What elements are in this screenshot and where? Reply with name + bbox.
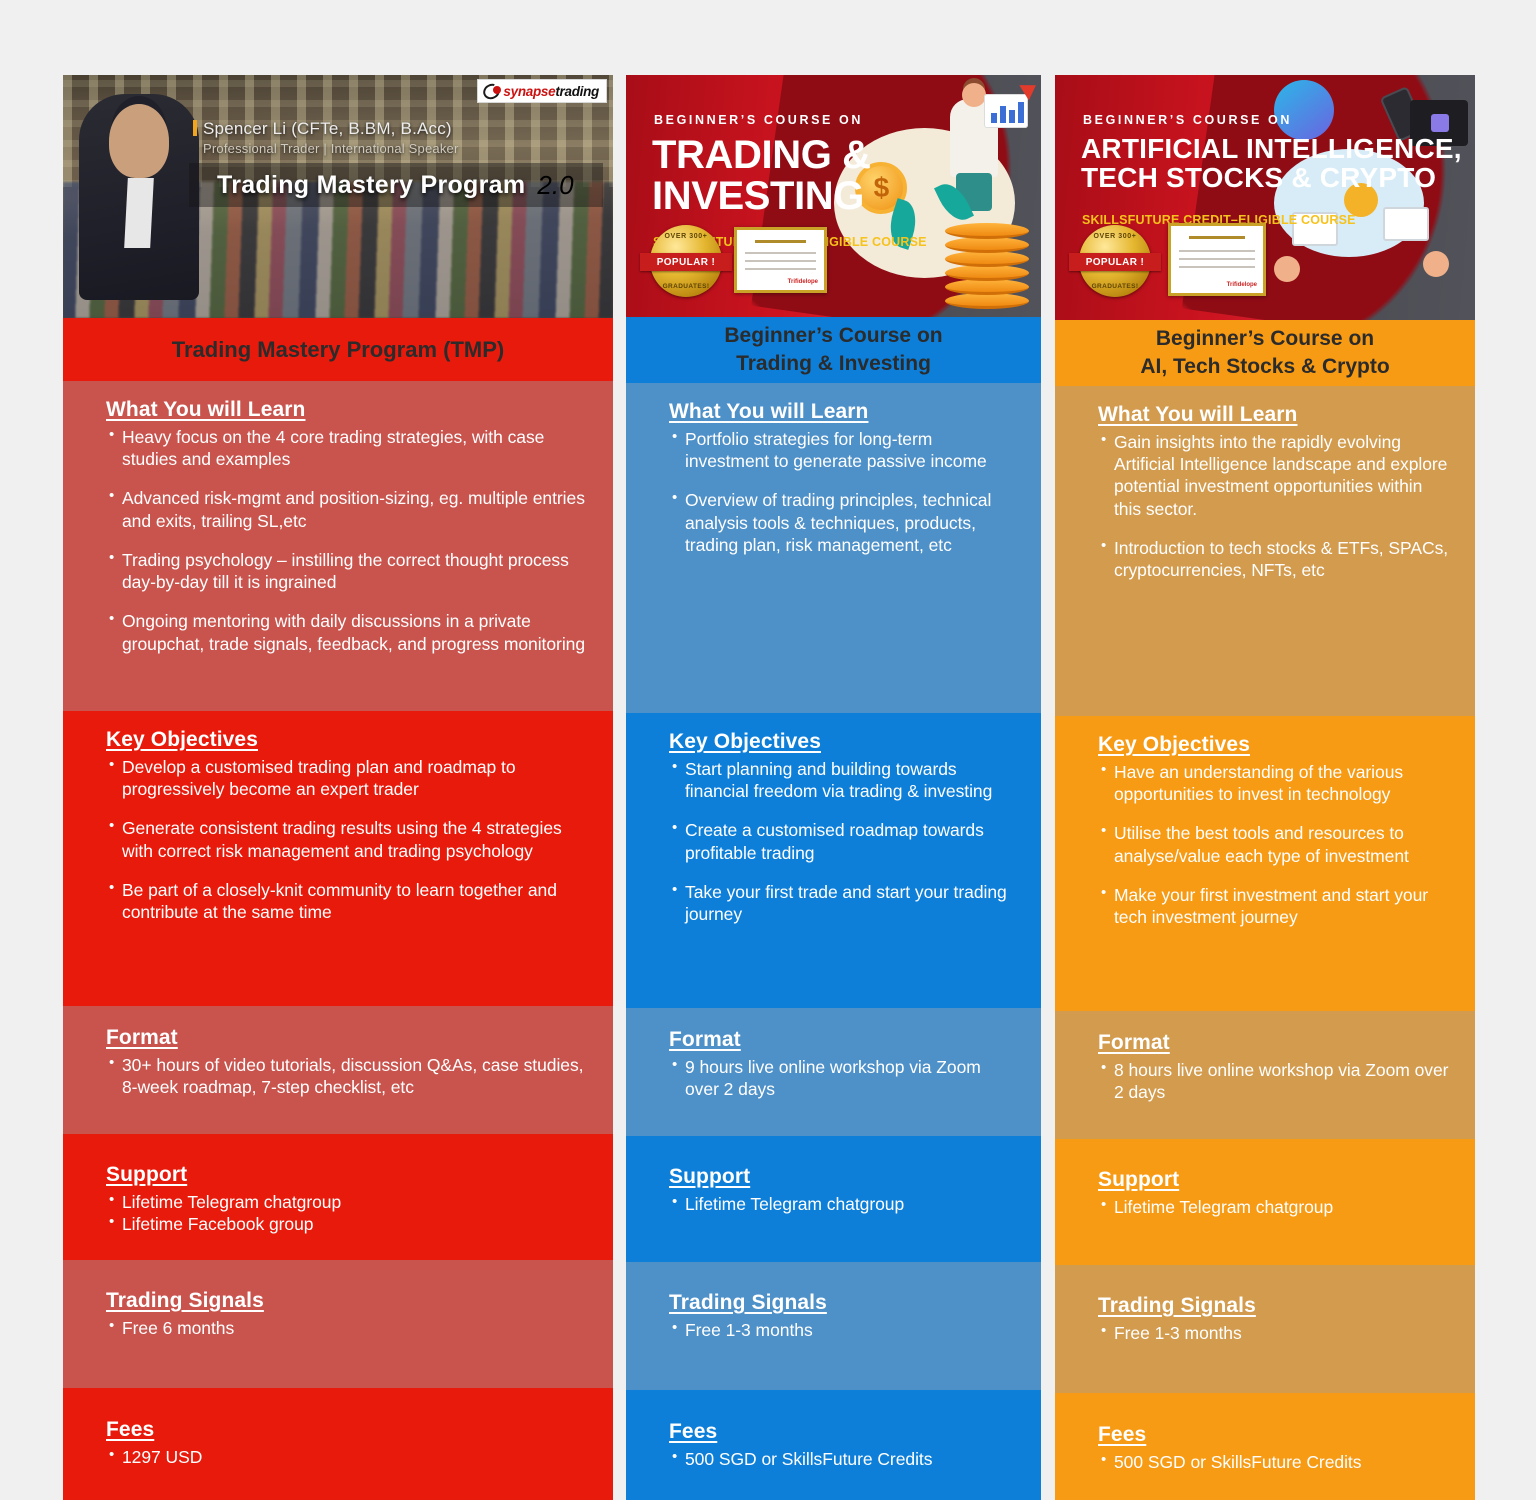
section-trading-signals-tmp: Trading Signals Free 6 months [63,1260,613,1388]
list-item: Trading psychology – instilling the corr… [109,549,591,593]
promo-title: ARTIFICIAL INTELLIGENCE, TECH STOCKS & C… [1081,135,1462,192]
section-list: Develop a customised trading plan and ro… [109,756,591,923]
list-item: 500 SGD or SkillsFuture Credits [672,1448,1019,1470]
section-list: Lifetime Telegram chatgroup [1101,1196,1453,1218]
promo-title-line-2: INVESTING [652,176,871,217]
certificate-thumbnail: Trifidelope [734,227,827,293]
section-list: 1297 USD [109,1446,591,1468]
list-item: Overview of trading principles, technica… [672,489,1019,556]
speaker-portrait [79,94,199,300]
logo-word-synapse: synapse [503,84,555,99]
logo-wordmark: synapsetrading [503,84,599,99]
section-format-ai: Format 8 hours live online workshop via … [1055,1011,1475,1139]
section-support-ai: Support Lifetime Telegram chatgroup [1055,1139,1475,1265]
list-item: Develop a customised trading plan and ro… [109,756,591,800]
section-heading: Format [1098,1031,1453,1055]
list-item: Lifetime Telegram chatgroup [109,1191,591,1213]
list-item: Take your first trade and start your tra… [672,881,1019,925]
logo-word-trading: trading [555,84,599,99]
chart-bar [1009,110,1015,123]
column-title-tmp: Trading Mastery Program (TMP) [63,318,613,381]
section-format-ti: Format 9 hours live online workshop via … [626,1008,1041,1136]
section-support-ti: Support Lifetime Telegram chatgroup [626,1136,1041,1262]
section-heading: Trading Signals [106,1289,591,1313]
column-title-text: Beginner’s Course on Trading & Investing [724,322,942,377]
cert-line [1179,258,1255,260]
section-fees-tmp: Fees 1297 USD [63,1388,613,1500]
tech-circle-icon [1274,80,1334,140]
section-heading: Format [669,1028,1019,1052]
section-heading: Fees [669,1420,1019,1444]
accent-bar-icon [193,120,197,136]
promo-kicker: BEGINNER’S COURSE ON [654,113,863,127]
list-item: Have an understanding of the various opp… [1101,761,1453,805]
course-column-ai-tech-crypto: BEGINNER’S COURSE ON ARTIFICIAL INTELLIG… [1055,75,1475,1500]
section-list: 500 SGD or SkillsFuture Credits [1101,1451,1453,1473]
section-what-you-will-learn-ti: What You will Learn Portfolio strategies… [626,383,1041,713]
section-heading: What You will Learn [669,400,1019,424]
section-list: Portfolio strategies for long-term inves… [672,428,1019,556]
program-title: Trading Mastery Program [217,171,525,200]
section-heading: Fees [106,1418,591,1442]
section-list: 9 hours live online workshop via Zoom ov… [672,1056,1019,1100]
section-list: Heavy focus on the 4 core trading strate… [109,426,591,655]
section-heading: Key Objectives [1098,733,1453,757]
section-what-you-will-learn-ai: What You will Learn Gain insights into t… [1055,386,1475,716]
course-column-trading-investing: $ BEGINNER’S COURSE ON TRADING & INVESTI… [626,75,1041,1500]
certificate-thumbnail: Trifidelope [1168,223,1266,296]
list-item: Heavy focus on the 4 core trading strate… [109,426,591,470]
list-item: 500 SGD or SkillsFuture Credits [1101,1451,1453,1473]
badge-top-text: OVER 300+ [1079,233,1151,240]
cert-logo: Trifidelope [788,279,818,285]
bar-chart-icon [984,94,1028,128]
cert-line [745,260,816,262]
monitor-icon [1383,207,1429,241]
promo-title: TRADING & INVESTING [652,135,871,217]
badge-bottom-text: GRADUATES! [650,283,722,290]
section-list: 30+ hours of video tutorials, discussion… [109,1054,591,1098]
section-heading: What You will Learn [1098,403,1453,427]
list-item: Lifetime Telegram chatgroup [672,1193,1019,1215]
list-item: Advanced risk-mgmt and position-sizing, … [109,487,591,531]
chart-bar [1018,102,1024,123]
badge-bottom-text: GRADUATES! [1079,283,1151,290]
cert-line [745,268,816,270]
list-item: 8 hours live online workshop via Zoom ov… [1101,1059,1453,1103]
promo-title-line-1: TRADING & [652,135,871,176]
list-item: 9 hours live online workshop via Zoom ov… [672,1056,1019,1100]
list-item: Be part of a closely-knit community to l… [109,879,591,923]
section-heading: Trading Signals [1098,1294,1453,1318]
list-item: Lifetime Telegram chatgroup [1101,1196,1453,1218]
list-item: Utilise the best tools and resources to … [1101,822,1453,866]
section-heading: Trading Signals [669,1291,1019,1315]
banner-trading-investing: $ BEGINNER’S COURSE ON TRADING & INVESTI… [626,75,1041,317]
cert-line [745,252,816,254]
section-fees-ti: Fees 500 SGD or SkillsFuture Credits [626,1390,1041,1500]
list-item: Start planning and building towards fina… [672,758,1019,802]
section-heading: Support [1098,1168,1453,1192]
speaker-name-text: Spencer Li (CFTe, B.BM, B.Acc) [203,119,452,138]
section-heading: Key Objectives [106,728,591,752]
section-list: Gain insights into the rapidly evolving … [1101,431,1453,581]
program-version: 2.0 [537,170,573,201]
list-item: Generate consistent trading results usin… [109,817,591,861]
section-format-tmp: Format 30+ hours of video tutorials, dis… [63,1006,613,1134]
list-item: Free 6 months [109,1317,591,1339]
section-list: Have an understanding of the various opp… [1101,761,1453,928]
popular-badge: OVER 300+ POPULAR ! GRADUATES! [650,225,722,297]
section-heading: Fees [1098,1423,1453,1447]
column-title-text: Beginner’s Course on AI, Tech Stocks & C… [1140,325,1389,380]
section-heading: Key Objectives [669,730,1019,754]
badge-ribbon-text: POPULAR ! [1069,253,1161,271]
section-key-objectives-tmp: Key Objectives Develop a customised trad… [63,711,613,1006]
cert-line [1179,250,1255,252]
section-heading: Support [106,1163,591,1187]
chart-bar [991,113,997,123]
section-key-objectives-ai: Key Objectives Have an understanding of … [1055,716,1475,1011]
person-head-icon [1423,251,1449,277]
section-what-you-will-learn-tmp: What You will Learn Heavy focus on the 4… [63,381,613,711]
section-heading: Support [669,1165,1019,1189]
popular-badge: OVER 300+ POPULAR ! GRADUATES! [1079,225,1151,297]
list-item: Make your first investment and start you… [1101,884,1453,928]
coin-stack-icon [945,215,1029,309]
program-title-strip: Trading Mastery Program 2.0 [189,163,603,207]
banner-illustration [1257,75,1475,320]
cert-title-line [755,240,806,243]
chart-bar [1000,106,1006,123]
promo-title-line-1: ARTIFICIAL INTELLIGENCE, [1081,135,1462,164]
column-title-ai-tech-crypto: Beginner’s Course on AI, Tech Stocks & C… [1055,320,1475,386]
list-item: 30+ hours of video tutorials, discussion… [109,1054,591,1098]
list-item: Portfolio strategies for long-term inves… [672,428,1019,472]
synapse-logo-icon [483,84,500,99]
list-item: Free 1-3 months [1101,1322,1453,1344]
section-support-tmp: Support Lifetime Telegram chatgroup Life… [63,1134,613,1260]
section-list: Lifetime Telegram chatgroup Lifetime Fac… [109,1191,591,1235]
column-title-trading-investing: Beginner’s Course on Trading & Investing [626,317,1041,383]
list-item: Lifetime Facebook group [109,1213,591,1235]
section-heading: Format [106,1026,591,1050]
person-head-icon [1274,256,1300,282]
section-list: Free 6 months [109,1317,591,1339]
section-list: Free 1-3 months [1101,1322,1453,1344]
section-list: 500 SGD or SkillsFuture Credits [672,1448,1019,1470]
list-item: Ongoing mentoring with daily discussions… [109,610,591,654]
course-comparison-board: synapsetrading Spencer Li (CFTe, B.BM, B… [0,0,1536,1500]
section-list: Free 1-3 months [672,1319,1019,1341]
section-trading-signals-ti: Trading Signals Free 1-3 months [626,1262,1041,1390]
speaker-name: Spencer Li (CFTe, B.BM, B.Acc) [193,119,452,139]
list-item: Introduction to tech stocks & ETFs, SPAC… [1101,537,1453,581]
speaker-subtitle: Professional Trader | International Spea… [203,141,459,156]
section-heading: What You will Learn [106,398,591,422]
badge-top-text: OVER 300+ [650,233,722,240]
cert-title-line [1189,236,1245,239]
list-item: Create a customised roadmap towards prof… [672,819,1019,863]
section-fees-ai: Fees 500 SGD or SkillsFuture Credits [1055,1393,1475,1500]
list-item: Free 1-3 months [672,1319,1019,1341]
banner-tmp: synapsetrading Spencer Li (CFTe, B.BM, B… [63,75,613,318]
banner-ai-tech-crypto: BEGINNER’S COURSE ON ARTIFICIAL INTELLIG… [1055,75,1475,320]
list-item: Gain insights into the rapidly evolving … [1101,431,1453,520]
promo-title-line-2: TECH STOCKS & CRYPTO [1081,164,1462,193]
section-key-objectives-ti: Key Objectives Start planning and buildi… [626,713,1041,1008]
section-list: 8 hours live online workshop via Zoom ov… [1101,1059,1453,1103]
cert-logo: Trifidelope [1227,282,1257,288]
promo-kicker: BEGINNER’S COURSE ON [1083,113,1292,127]
section-list: Lifetime Telegram chatgroup [672,1193,1019,1215]
list-item: 1297 USD [109,1446,591,1468]
synapsetrading-logo: synapsetrading [477,79,607,103]
badge-ribbon-text: POPULAR ! [640,253,732,271]
section-list: Start planning and building towards fina… [672,758,1019,925]
cert-line [1179,266,1255,268]
course-column-tmp: synapsetrading Spencer Li (CFTe, B.BM, B… [63,75,613,1500]
section-trading-signals-ai: Trading Signals Free 1-3 months [1055,1265,1475,1393]
